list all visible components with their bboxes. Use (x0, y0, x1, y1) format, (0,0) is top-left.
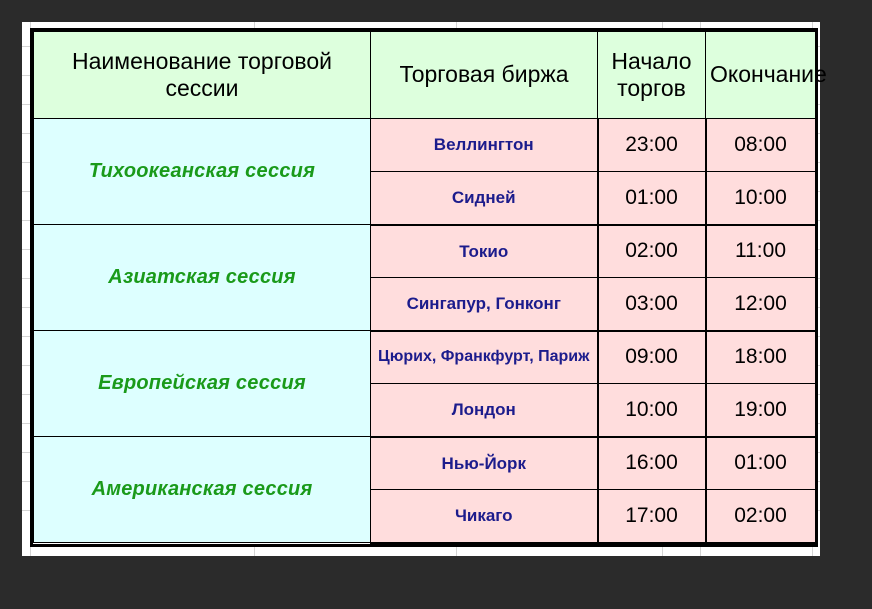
table-row: Европейская сессия Цюрих, Франкфурт, Пар… (34, 331, 816, 384)
column-header-session: Наименование торговой сессии (34, 32, 371, 119)
end-time-cell: 19:00 (706, 384, 816, 437)
start-time-cell: 17:00 (598, 490, 706, 543)
session-name-cell: Европейская сессия (34, 331, 371, 437)
exchange-name-cell: Токио (371, 225, 598, 278)
end-time-cell: 11:00 (706, 225, 816, 278)
end-time-cell: 01:00 (706, 437, 816, 490)
session-name-cell: Тихоокеанская сессия (34, 119, 371, 225)
end-time-cell: 08:00 (706, 119, 816, 172)
end-time-cell: 12:00 (706, 278, 816, 331)
exchange-name-cell: Веллингтон (371, 119, 598, 172)
exchange-name-cell: Сингапур, Гонконг (371, 278, 598, 331)
exchange-name-cell: Цюрих, Франкфурт, Париж (371, 331, 598, 384)
exchange-name-cell: Чикаго (371, 490, 598, 543)
start-time-cell: 03:00 (598, 278, 706, 331)
table-row: Тихоокеанская сессия Веллингтон 23:00 08… (34, 119, 816, 172)
table-body: Тихоокеанская сессия Веллингтон 23:00 08… (34, 119, 816, 543)
trading-sessions-table-container: Наименование торговой сессии Торговая би… (30, 28, 818, 547)
table-row: Азиатская сессия Токио 02:00 11:00 (34, 225, 816, 278)
exchange-name-cell: Лондон (371, 384, 598, 437)
start-time-cell: 01:00 (598, 172, 706, 225)
column-header-end: Окончание (706, 32, 816, 119)
start-time-cell: 16:00 (598, 437, 706, 490)
end-time-cell: 18:00 (706, 331, 816, 384)
exchange-name-cell: Сидней (371, 172, 598, 225)
trading-sessions-table: Наименование торговой сессии Торговая би… (33, 31, 817, 544)
column-header-start: Начало торгов (598, 32, 706, 119)
column-header-exchange: Торговая биржа (371, 32, 598, 119)
end-time-cell: 10:00 (706, 172, 816, 225)
session-name-cell: Азиатская сессия (34, 225, 371, 331)
start-time-cell: 23:00 (598, 119, 706, 172)
header-row: Наименование торговой сессии Торговая би… (34, 32, 816, 119)
table-row: Американская сессия Нью-Йорк 16:00 01:00 (34, 437, 816, 490)
start-time-cell: 02:00 (598, 225, 706, 278)
start-time-cell: 10:00 (598, 384, 706, 437)
table-header: Наименование торговой сессии Торговая би… (34, 32, 816, 119)
end-time-cell: 02:00 (706, 490, 816, 543)
exchange-name-cell: Нью-Йорк (371, 437, 598, 490)
start-time-cell: 09:00 (598, 331, 706, 384)
session-name-cell: Американская сессия (34, 437, 371, 543)
